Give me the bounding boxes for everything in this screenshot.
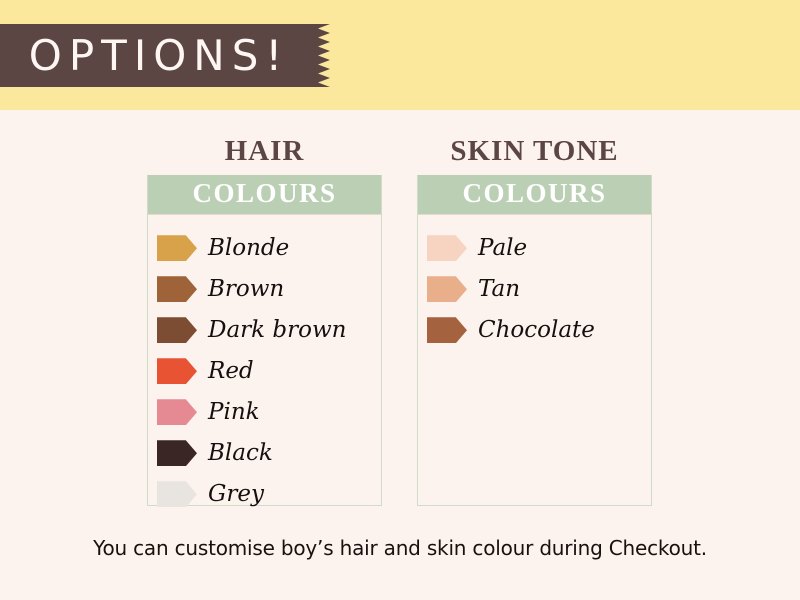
colour-label: Dark brown xyxy=(208,319,346,342)
colour-label: Pale xyxy=(478,237,527,260)
list-item[interactable]: Red xyxy=(157,351,381,392)
colour-swatch xyxy=(157,317,197,343)
list-item[interactable]: Dark brown xyxy=(157,310,381,351)
hair-colour-list: Blonde Brown Dark brown Red Pink xyxy=(148,215,381,515)
colour-label: Brown xyxy=(208,278,284,301)
list-item[interactable]: Black xyxy=(157,433,381,474)
list-item[interactable]: Pale xyxy=(427,228,651,269)
colour-swatch xyxy=(157,399,197,425)
panel-skin-tone-colours: SKIN TONE COLOURS Pale Tan Chocolate xyxy=(417,136,652,506)
list-item[interactable]: Chocolate xyxy=(427,310,651,351)
panel-hair-subtitle: COLOURS xyxy=(148,175,381,213)
colour-swatch xyxy=(427,276,467,302)
colour-label: Tan xyxy=(478,278,520,301)
list-item[interactable]: Pink xyxy=(157,392,381,433)
colour-swatch xyxy=(427,317,467,343)
skin-colour-list: Pale Tan Chocolate xyxy=(418,215,651,351)
options-ribbon-banner: OPTIONS! xyxy=(0,24,330,87)
colour-label: Pink xyxy=(208,401,260,424)
colour-swatch xyxy=(427,235,467,261)
colour-swatch xyxy=(157,358,197,384)
colour-label: Chocolate xyxy=(478,319,595,342)
panel-skin-subtitle: COLOURS xyxy=(418,175,651,213)
footer-caption: You can customise boy’s hair and skin co… xyxy=(0,536,800,560)
colour-swatch xyxy=(157,440,197,466)
panel-hair-title: HAIR xyxy=(147,136,382,166)
list-item[interactable]: Brown xyxy=(157,269,381,310)
list-item[interactable]: Blonde xyxy=(157,228,381,269)
panel-skin-box: COLOURS Pale Tan Chocolate xyxy=(417,175,652,506)
ribbon-zigzag-edge-icon xyxy=(310,24,330,87)
colour-swatch xyxy=(157,276,197,302)
list-item[interactable]: Grey xyxy=(157,474,381,515)
colour-swatch xyxy=(157,481,197,507)
list-item[interactable]: Tan xyxy=(427,269,651,310)
panel-skin-title: SKIN TONE xyxy=(417,136,652,166)
panel-hair-box: COLOURS Blonde Brown Dark brown Red xyxy=(147,175,382,506)
colour-swatch xyxy=(157,235,197,261)
colour-label: Blonde xyxy=(208,237,289,260)
banner-title: OPTIONS! xyxy=(0,24,312,87)
colour-label: Black xyxy=(208,442,273,465)
panel-hair-colours: HAIR COLOURS Blonde Brown Dark brown xyxy=(147,136,382,506)
colour-label: Red xyxy=(208,360,254,383)
colour-label: Grey xyxy=(208,483,264,506)
